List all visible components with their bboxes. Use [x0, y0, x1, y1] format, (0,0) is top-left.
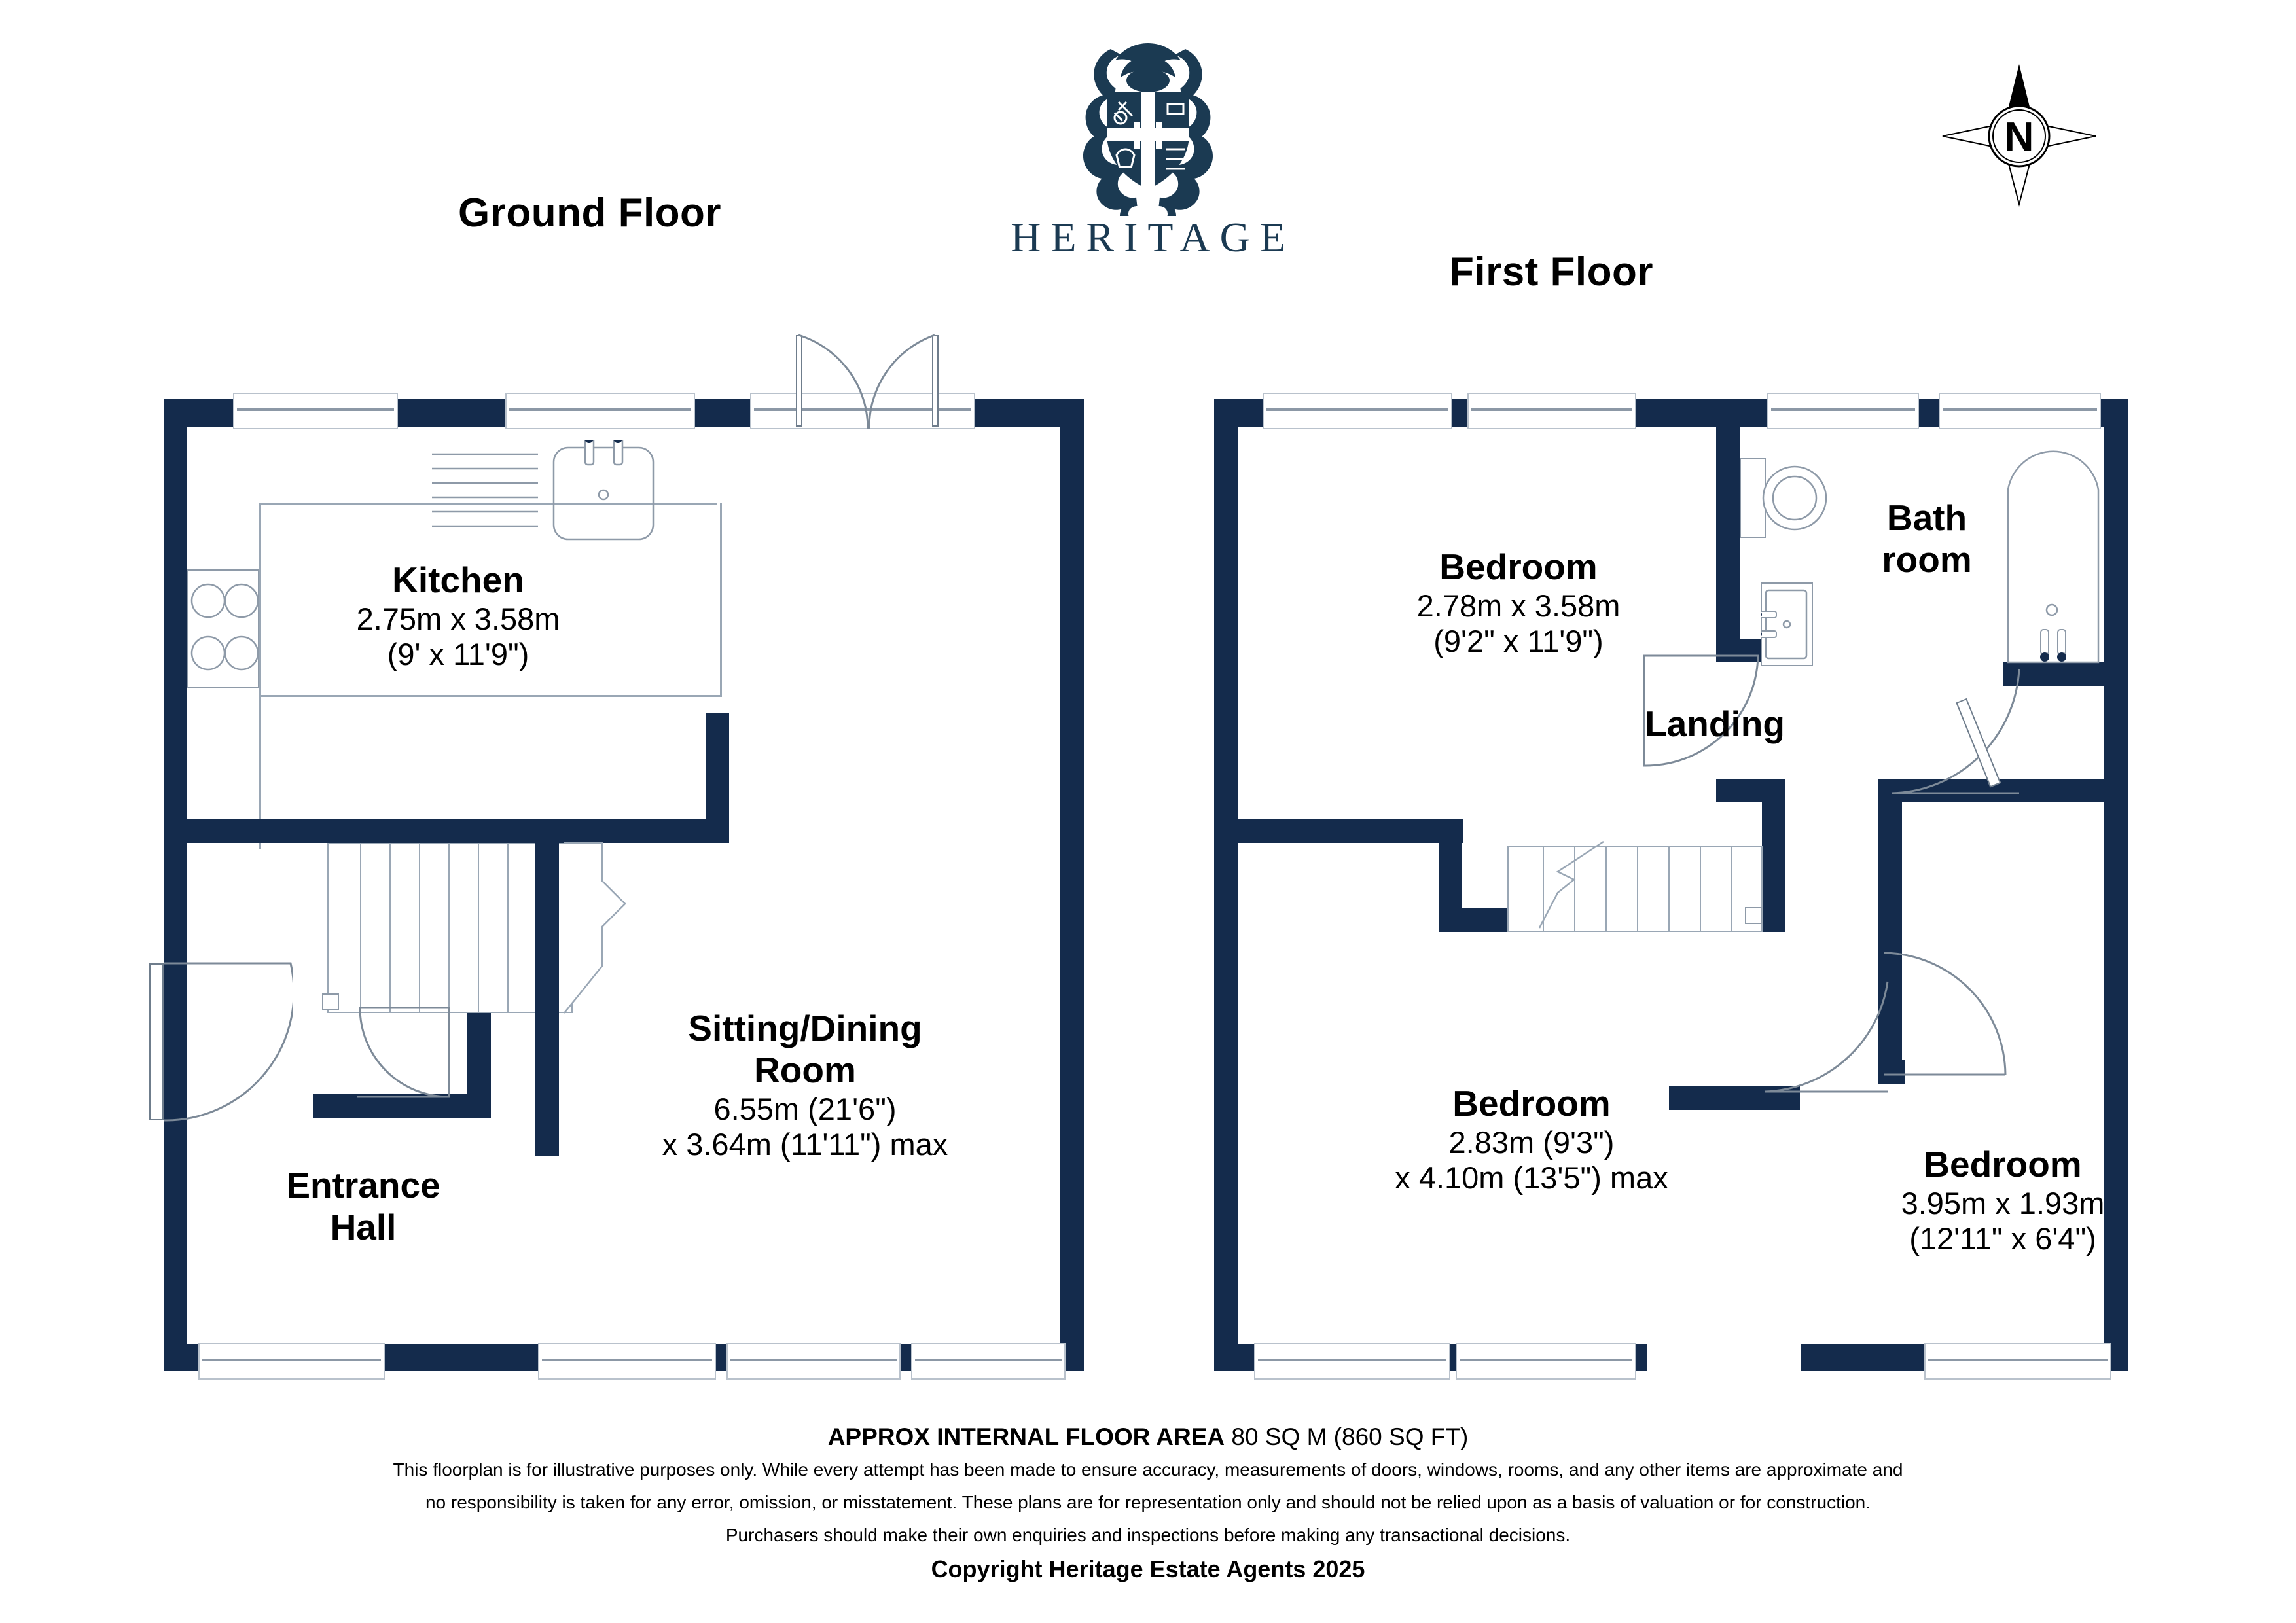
bedroom1-dim-imperial: (9'2" x 11'9")	[1417, 624, 1621, 660]
ff-wall-bottom-a	[1214, 1344, 1259, 1371]
gf-lounge-wall-vertical	[535, 843, 559, 1156]
gf-wall-top-a	[164, 399, 242, 427]
gf-wall-left	[164, 399, 187, 1371]
ff-bed3-door-swing	[1882, 950, 2013, 1081]
kitchen-dim-metric: 2.75m x 3.58m	[357, 601, 560, 637]
room-label-entrance-hall: Entrance Hall	[286, 1165, 440, 1249]
bedroom3-dim-imperial: (12'11" x 6'4")	[1901, 1221, 2105, 1257]
floor-area-label: APPROX INTERNAL FLOOR AREA	[828, 1423, 1225, 1450]
brand-logo: HERITAGE	[939, 20, 1357, 262]
gf-kitchen-counter-inner-v	[720, 503, 722, 696]
ff-window-bed2-1	[1254, 1343, 1450, 1380]
sitting-dining-name-l2: Room	[662, 1050, 948, 1092]
ground-floor-heading: Ground Floor	[458, 190, 721, 236]
gf-window-lounge-b3	[911, 1343, 1066, 1380]
copyright-line: Copyright Heritage Estate Agents 2025	[0, 1556, 2296, 1583]
gf-hob-rings-icon	[187, 569, 259, 688]
footer: APPROX INTERNAL FLOOR AREA 80 SQ M (860 …	[0, 1423, 2296, 1583]
floorplan-canvas: HERITAGE N Ground Floor First Floor	[0, 0, 2296, 1623]
compass-rose-icon: N	[1937, 59, 2101, 213]
gf-wall-top-d	[969, 399, 1084, 427]
room-label-bathroom: Bath room	[1882, 497, 1972, 581]
ff-toilet-icon	[1761, 458, 1833, 538]
ff-bathroom-wall-left	[1716, 419, 1740, 639]
ff-landing-door-swing-left	[1643, 654, 1780, 844]
ff-window-bathroom-1	[1767, 393, 1919, 429]
room-label-bedroom-2: Bedroom 2.83m (9'3") x 4.10m (13'5") max	[1395, 1083, 1668, 1196]
first-floor-heading: First Floor	[1449, 249, 1653, 295]
gf-window-lounge-b2	[726, 1343, 901, 1380]
gf-internal-door-swing	[318, 1007, 456, 1137]
disclaimer-line-2: no responsibility is taken for any error…	[0, 1489, 2296, 1516]
gf-kitchen-partition-horizontal	[187, 819, 729, 843]
disclaimer-line-3: Purchasers should make their own enquiri…	[0, 1522, 2296, 1549]
heraldic-crest-icon	[1050, 20, 1246, 216]
disclaimer-line-1: This floorplan is for illustrative purpo…	[0, 1456, 2296, 1484]
gf-wall-bottom-a	[164, 1344, 203, 1371]
ff-window-bed1-1	[1263, 393, 1452, 429]
gf-front-door-swing	[162, 961, 293, 1124]
entrance-hall-name-l1: Entrance	[286, 1165, 440, 1207]
kitchen-name: Kitchen	[357, 560, 560, 601]
sitting-dining-dim-imperial: x 3.64m (11'11") max	[662, 1127, 948, 1163]
gf-kitchen-counter-inner-h	[259, 695, 722, 697]
ff-staircase-winder	[1499, 839, 1617, 934]
ff-basin-icon	[1761, 582, 1813, 666]
ff-window-bed2-2	[1456, 1343, 1636, 1380]
ff-window-bed3	[1924, 1343, 2111, 1380]
landing-name: Landing	[1645, 704, 1785, 745]
ff-stair-newel	[1745, 907, 1762, 924]
gf-window-kitchen-2	[505, 393, 695, 429]
brand-wordmark: HERITAGE	[939, 213, 1357, 262]
sitting-dining-name-l1: Sitting/Dining	[662, 1008, 948, 1050]
ff-bed2-door-swing	[1668, 980, 1890, 1111]
bathroom-name-l2: room	[1882, 539, 1972, 581]
room-label-bedroom-3: Bedroom 3.95m x 1.93m (12'11" x 6'4")	[1901, 1144, 2105, 1257]
bedroom1-dim-metric: 2.78m x 3.58m	[1417, 588, 1621, 624]
ff-window-bathroom-2	[1939, 393, 2101, 429]
gf-wall-top-b	[393, 399, 511, 427]
kitchen-dim-imperial: (9' x 11'9")	[357, 637, 560, 673]
floor-area-line: APPROX INTERNAL FLOOR AREA 80 SQ M (860 …	[0, 1423, 2296, 1451]
bedroom2-dim-imperial: x 4.10m (13'5") max	[1395, 1160, 1668, 1196]
entrance-hall-name-l2: Hall	[286, 1207, 440, 1249]
gf-front-door-leaf[interactable]	[149, 963, 164, 1120]
ff-wall-top-c	[1632, 399, 1776, 427]
gf-wall-right	[1060, 399, 1084, 1371]
ff-bed1-wall-bottom	[1214, 819, 1463, 843]
gf-wall-bottom-b	[380, 1344, 543, 1371]
floor-area-value: 80 SQ M (860 SQ FT)	[1225, 1423, 1468, 1450]
room-label-bedroom-1: Bedroom 2.78m x 3.58m (9'2" x 11'9")	[1417, 546, 1621, 660]
bedroom2-dim-metric: 2.83m (9'3")	[1395, 1125, 1668, 1161]
sitting-dining-dim-metric: 6.55m (21'6")	[662, 1092, 948, 1128]
room-label-sitting-dining: Sitting/Dining Room 6.55m (21'6") x 3.64…	[662, 1008, 948, 1163]
bedroom1-name: Bedroom	[1417, 546, 1621, 588]
bathroom-name-l1: Bath	[1882, 497, 1972, 539]
room-label-landing: Landing	[1645, 704, 1785, 745]
gf-french-door-swing	[792, 330, 946, 432]
bedroom3-dim-metric: 3.95m x 1.93m	[1901, 1186, 2105, 1222]
gf-kitchen-counter-left-line	[259, 503, 261, 849]
ff-wall-bottom-d	[1801, 1344, 1932, 1371]
gf-window-lounge-b1	[538, 1343, 716, 1380]
ff-wall-left	[1214, 399, 1238, 1371]
room-label-kitchen: Kitchen 2.75m x 3.58m (9' x 11'9")	[357, 560, 560, 673]
gf-window-kitchen-1	[233, 393, 398, 429]
gf-staircase-winder	[563, 842, 635, 1016]
gf-window-hall-bottom	[198, 1343, 385, 1380]
ff-wall-right	[2104, 399, 2128, 1371]
ff-bath-icon	[2004, 432, 2102, 700]
ff-window-bed1-2	[1467, 393, 1636, 429]
bedroom2-name: Bedroom	[1395, 1083, 1668, 1125]
bedroom3-name: Bedroom	[1901, 1144, 2105, 1186]
gf-sink-icon	[425, 440, 720, 571]
svg-text:N: N	[2005, 115, 2034, 160]
